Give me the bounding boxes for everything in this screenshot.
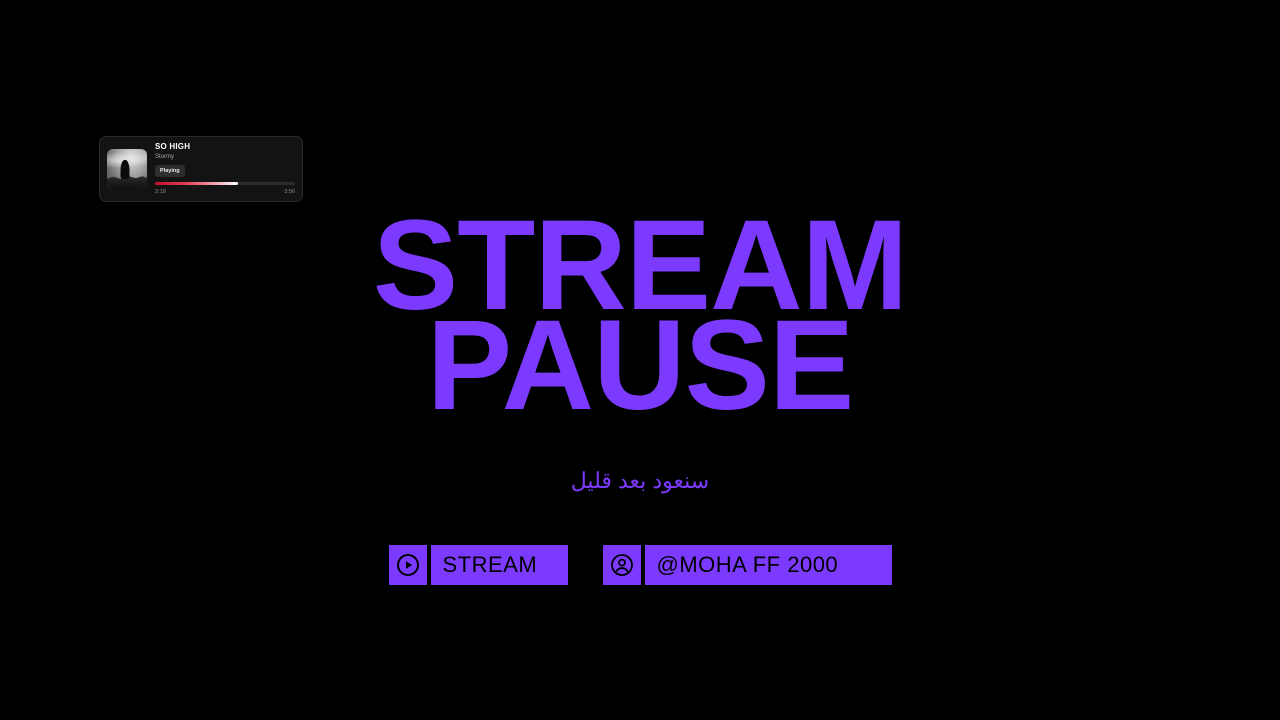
now-playing-widget: SO HIGH Stormy Playing 2:19 3:56 (99, 136, 303, 202)
total-duration: 3:56 (284, 188, 295, 196)
elapsed-time: 2:19 (155, 188, 166, 196)
progress-bar-track[interactable] (155, 182, 295, 185)
track-title: SO HIGH (155, 142, 295, 152)
subtitle-text: سنعود بعد قليل (0, 466, 1280, 496)
progress-bar-fill (155, 182, 238, 185)
handle-chip[interactable]: @MOHA FF 2000 (603, 545, 892, 585)
stream-chip-label[interactable]: STREAM (431, 545, 568, 585)
page-title: STREAM PAUSE (0, 216, 1280, 416)
user-circle-icon[interactable] (603, 545, 641, 585)
track-artist: Stormy (155, 153, 295, 162)
playback-status-badge: Playing (155, 165, 185, 177)
headline-line-pause: PAUSE (0, 316, 1280, 416)
bottom-chip-bar: STREAM @MOHA FF 2000 (0, 545, 1280, 585)
album-art-image (107, 149, 147, 189)
stream-chip[interactable]: STREAM (389, 545, 568, 585)
play-circle-icon[interactable] (389, 545, 427, 585)
album-art-figure (120, 160, 129, 179)
progress-times: 2:19 3:56 (155, 188, 295, 196)
handle-chip-label[interactable]: @MOHA FF 2000 (645, 545, 892, 585)
now-playing-info: SO HIGH Stormy Playing 2:19 3:56 (155, 142, 295, 196)
